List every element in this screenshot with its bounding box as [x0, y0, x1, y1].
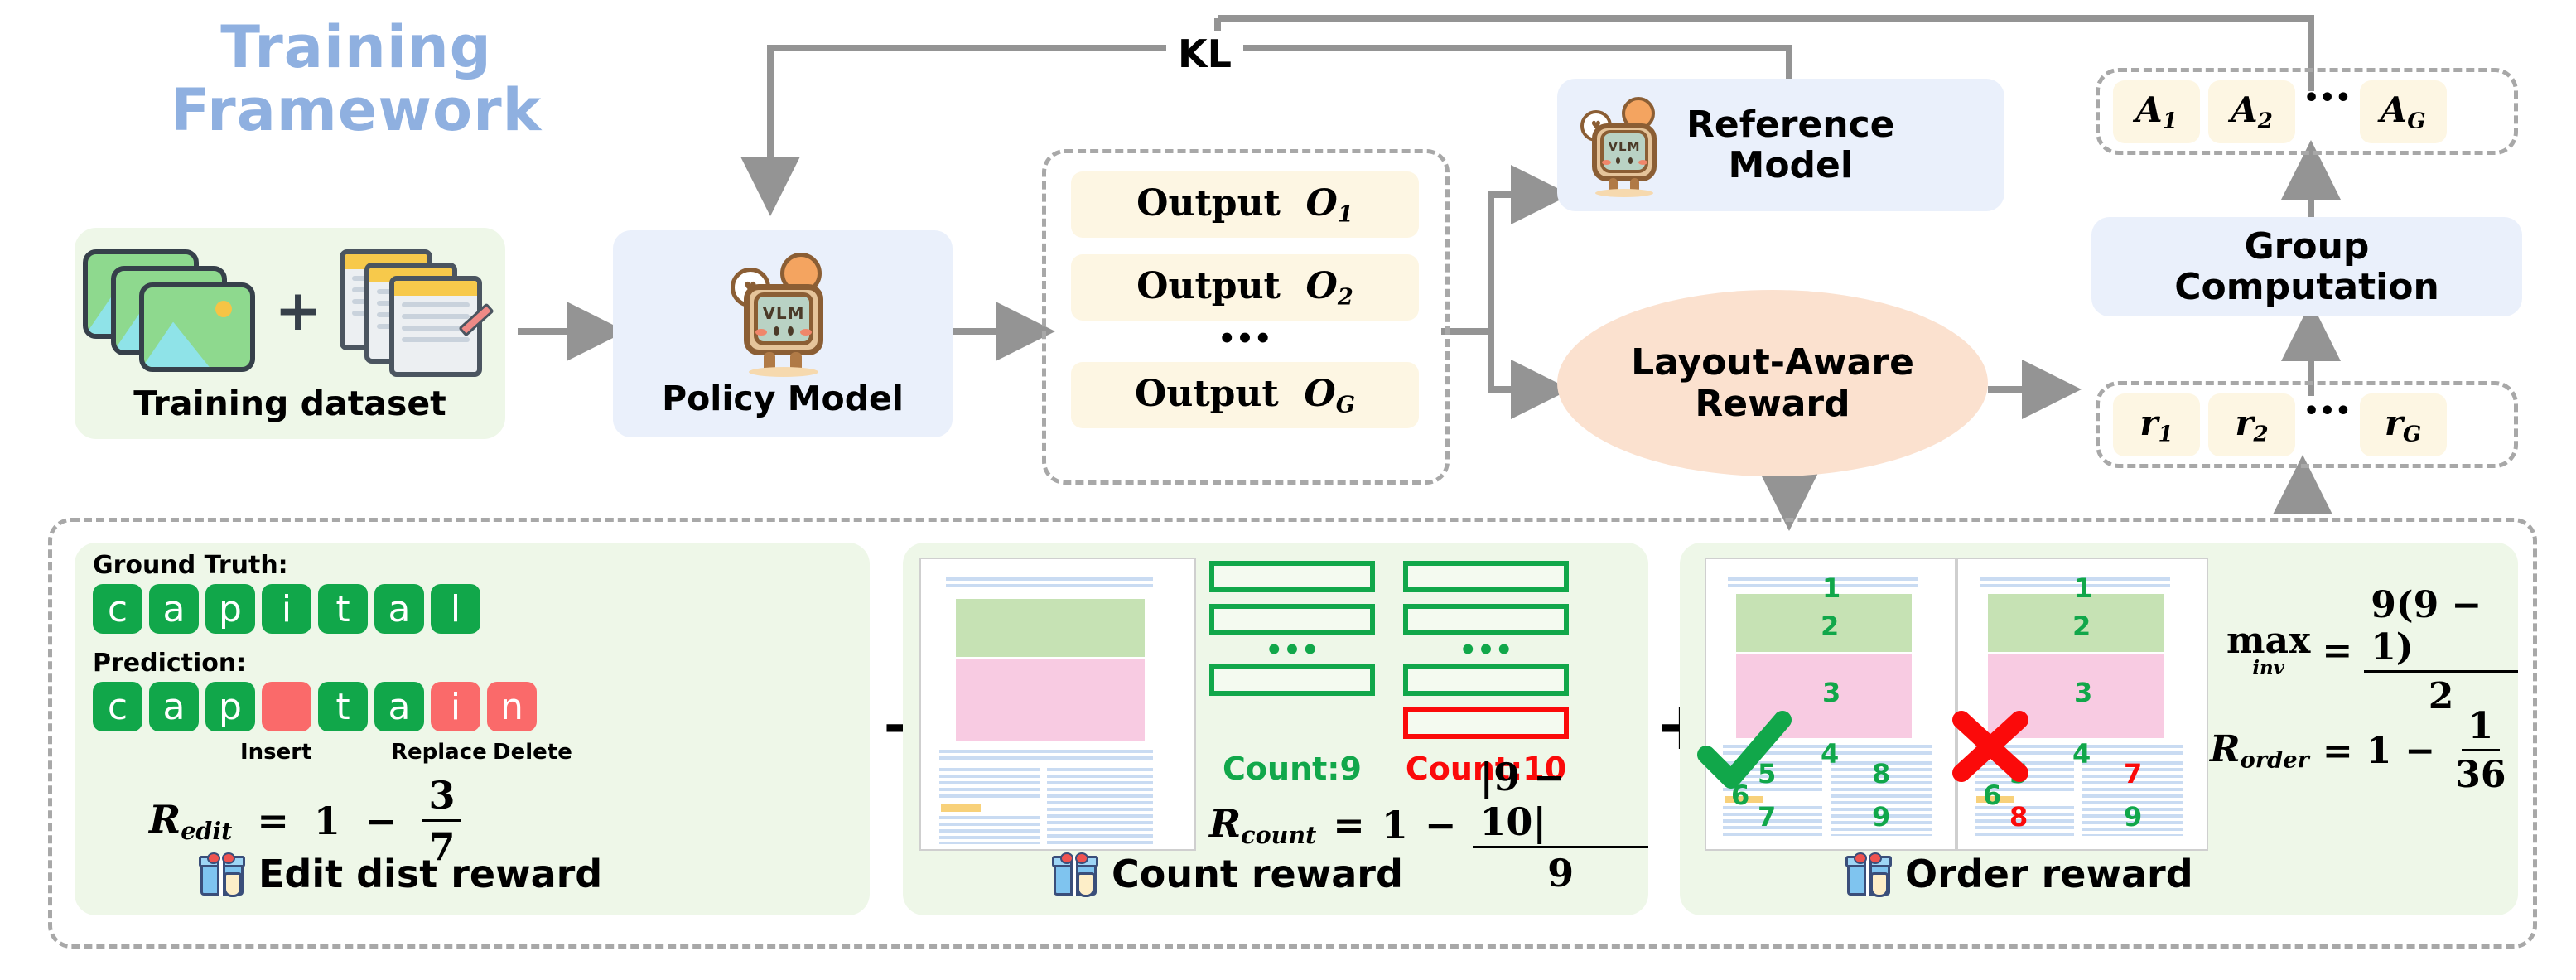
ground-truth-tile: l [431, 584, 480, 634]
ground-truth-row: capital [93, 584, 480, 634]
output-symbol: O [1306, 265, 1338, 307]
output-symbol: O [1306, 182, 1338, 224]
order-formula-denominator: 36 [2448, 751, 2512, 796]
count-formula-lhs: R [1209, 801, 1241, 846]
advantage-subscript: G [2407, 109, 2425, 133]
count-formula-one: 1 [1382, 803, 1408, 847]
output-item[interactable]: Output O1 [1071, 171, 1419, 238]
edit-formula-numerator: 3 [422, 773, 461, 822]
edit-dist-reward-label: Edit dist reward [258, 852, 602, 896]
order-number: 8 [1872, 758, 1890, 789]
group-computation-line2: Computation [2174, 267, 2439, 307]
order-formula-equals: = [2323, 730, 2353, 772]
max-inv-equals: = [2322, 630, 2352, 672]
vlm-robot-icon: ♥ VLM [721, 249, 845, 374]
order-page-correct: 1 2 3 4 5 6 7 8 9 [1705, 558, 1956, 851]
count-ellipsis: ••• [1403, 644, 1569, 658]
count-box [1209, 664, 1375, 696]
prediction-tile: c [93, 682, 142, 731]
check-mark-icon [1696, 707, 1796, 789]
outputs-ellipsis: ••• [1071, 323, 1419, 356]
dataset-plus-sign: + [275, 278, 322, 344]
reward-symbol: r [2235, 403, 2253, 443]
order-number: 1 [1822, 572, 1840, 604]
prediction-caption: Prediction: [93, 649, 246, 678]
reward-symbol: r [2385, 403, 2403, 443]
count-formula-equals: = [1333, 803, 1365, 847]
outputs-group: Output O1 Output O2 ••• Output OG [1042, 149, 1450, 485]
rewards-group: r1 r2 ••• rG [2096, 381, 2518, 468]
reward-chip[interactable]: rG [2360, 393, 2447, 456]
max-inv-formula: max inv = 9(9 − 1) 2 [2226, 584, 2518, 717]
order-formula-lhs-sub: order [2241, 746, 2309, 773]
order-number: 3 [2074, 677, 2092, 708]
vlm-chip-label: VLM [1608, 139, 1640, 154]
order-number: 4 [1821, 738, 1839, 770]
layout-aware-reward-line1: Layout-Aware [1631, 342, 1914, 383]
page-title: Training Framework [141, 17, 572, 142]
count-box-extra [1403, 707, 1569, 739]
output-label: Output [1136, 265, 1281, 307]
ground-truth-tile: a [374, 584, 424, 634]
ground-truth-tile: t [318, 584, 368, 634]
order-number: 7 [1758, 801, 1776, 833]
max-inv-lhs-sub: inv [2252, 659, 2284, 678]
output-label: Output [1136, 182, 1281, 224]
prediction-tile: i [431, 682, 480, 731]
count-box [1209, 561, 1375, 592]
edit-formula-one: 1 [314, 799, 340, 843]
reward-subscript: G [2403, 422, 2421, 447]
count-box [1209, 604, 1375, 635]
edit-formula-equals: = [257, 799, 289, 843]
training-dataset-label: Training dataset [133, 384, 446, 423]
ground-truth-tile: a [149, 584, 199, 634]
count-formula-numerator: |9 − 10| [1473, 755, 1648, 848]
edit-formula-lhs-sub: edit [181, 817, 232, 845]
ground-truth-tile: i [262, 584, 311, 634]
prediction-tile [262, 682, 311, 731]
prediction-tile: p [205, 682, 255, 731]
group-computation-card[interactable]: Group Computation [2091, 217, 2522, 316]
order-number: 9 [1872, 801, 1890, 833]
count-box [1403, 604, 1569, 635]
output-label: Output [1135, 373, 1279, 415]
gift-icon [199, 851, 245, 897]
policy-model-label: Policy Model [662, 379, 904, 418]
count-column-correct: ••• Count:9 [1209, 561, 1375, 787]
count-reward-label: Count reward [1112, 852, 1403, 896]
advantage-chip[interactable]: AG [2360, 80, 2447, 143]
prediction-row: captain [93, 682, 537, 731]
order-formula-minus: − [2405, 730, 2435, 772]
document-mock [919, 558, 1196, 851]
advantage-symbol: A [2231, 89, 2258, 130]
order-number-error: 7 [2124, 758, 2142, 789]
edit-dist-reward-panel[interactable]: Ground Truth: capital Prediction: captai… [75, 543, 870, 915]
vlm-chip-label: VLM [762, 303, 804, 323]
max-inv-lhs: max [2226, 623, 2310, 659]
count-column-wrong: ••• Count:10 [1403, 561, 1569, 787]
reference-model-line2: Model [1686, 145, 1895, 186]
layout-aware-reward-oval[interactable]: Layout-Aware Reward [1557, 290, 1988, 476]
ground-truth-tile: p [205, 584, 255, 634]
edit-formula-lhs: R [149, 797, 181, 842]
rewards-ellipsis: ••• [2303, 397, 2352, 426]
op-label-delete: Delete [493, 740, 572, 765]
gift-icon [1052, 851, 1098, 897]
count-formula-minus: − [1425, 803, 1457, 847]
reward-symbol: r [2139, 403, 2158, 443]
advantage-symbol: A [2135, 89, 2163, 130]
order-page-wrong: 1 2 3 4 5 6 8 7 9 [1956, 558, 2208, 851]
policy-model-card[interactable]: ♥ VLM Policy Model [613, 230, 953, 437]
reference-model-line1: Reference [1686, 104, 1895, 145]
reward-chip[interactable]: r2 [2208, 393, 2295, 456]
count-formula-denominator: 9 [1541, 848, 1580, 896]
order-number: 3 [1822, 677, 1840, 708]
advantage-subscript: 1 [2163, 109, 2178, 133]
reward-subscript: 2 [2254, 422, 2269, 447]
advantage-chip[interactable]: A2 [2208, 80, 2295, 143]
edit-formula-minus: − [365, 799, 398, 843]
layout-aware-reward-line2: Reward [1695, 384, 1850, 424]
count-formula-lhs-sub: count [1241, 821, 1316, 849]
page-title-line1: Training [220, 17, 492, 80]
reward-chip[interactable]: r1 [2113, 393, 2200, 456]
reference-model-label: Reference Model [1686, 104, 1895, 186]
kl-edge-label: KL [1166, 31, 1243, 76]
advantages-group: A1 A2 ••• AG [2096, 68, 2518, 155]
output-subscript: G [1336, 391, 1355, 418]
prediction-tile: a [374, 682, 424, 731]
group-computation-line1: Group [2245, 226, 2370, 267]
order-number: 2 [1821, 611, 1839, 642]
output-symbol: O [1304, 373, 1335, 415]
op-label-replace: Replace [391, 740, 487, 765]
ground-truth-tile: c [93, 584, 142, 634]
max-inv-numerator: 9(9 − 1) [2364, 584, 2518, 673]
advantage-subscript: 2 [2258, 109, 2273, 133]
order-number: 2 [2072, 611, 2091, 642]
order-formula-lhs: R [2210, 728, 2241, 770]
order-reward-formula: Rorder = 1 − 1 36 [2210, 705, 2513, 796]
notes-icon [340, 249, 497, 374]
output-item[interactable]: Output O2 [1071, 254, 1419, 321]
reward-subscript: 1 [2159, 422, 2173, 447]
prediction-tile: a [149, 682, 199, 731]
advantage-symbol: A [2381, 89, 2408, 130]
advantage-chip[interactable]: A1 [2113, 80, 2200, 143]
training-dataset-card[interactable]: + Training dataset [75, 228, 505, 439]
count-ellipsis: ••• [1209, 644, 1375, 658]
order-number-error: 8 [2009, 801, 2028, 833]
count-box [1403, 664, 1569, 696]
output-subscript: 1 [1338, 200, 1353, 227]
count-box [1403, 561, 1569, 592]
cross-mark-icon [1946, 705, 2038, 788]
order-reward-label: Order reward [1905, 852, 2193, 896]
page-title-line2: Framework [171, 80, 542, 142]
order-formula-numerator: 1 [2462, 705, 2501, 751]
vlm-robot-icon: ♥ VLM [1574, 95, 1673, 195]
images-icon [83, 249, 257, 374]
order-reward-panel[interactable]: 1 2 3 4 5 6 7 8 9 1 2 3 4 5 6 8 7 9 [1680, 543, 2518, 915]
order-number: 4 [2072, 738, 2091, 770]
output-subscript: 2 [1338, 283, 1353, 310]
ground-truth-caption: Ground Truth: [93, 551, 288, 580]
output-item[interactable]: Output OG [1071, 362, 1419, 428]
count-reward-panel[interactable]: ••• Count:9 ••• Count:10 Rcount = 1 − |9… [903, 543, 1648, 915]
order-formula-one: 1 [2366, 730, 2392, 772]
gift-icon [1845, 851, 1892, 897]
order-number: 1 [2074, 572, 2092, 604]
order-number: 9 [2124, 801, 2142, 833]
prediction-tile: t [318, 682, 368, 731]
reference-model-card[interactable]: ♥ VLM Reference Model [1557, 79, 2004, 211]
advantages-ellipsis: ••• [2303, 84, 2352, 113]
prediction-tile: n [487, 682, 537, 731]
op-label-insert: Insert [240, 740, 312, 765]
